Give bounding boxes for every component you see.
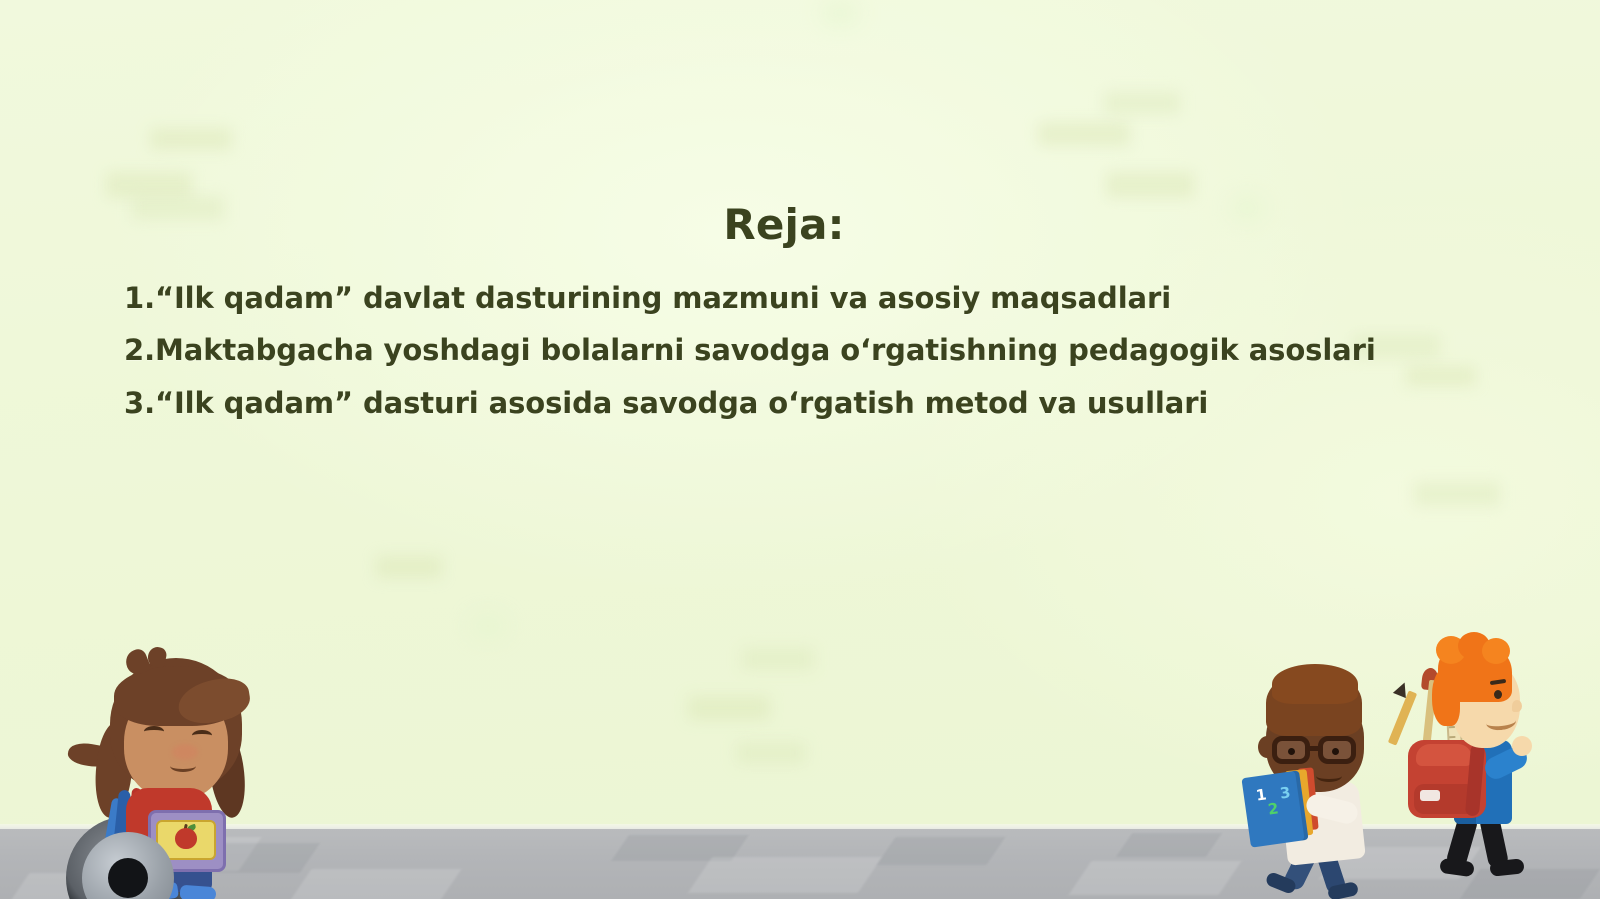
agenda-list: 1.“Ilk qadam” davlat dasturining mazmuni… <box>124 278 1424 424</box>
hair <box>1272 664 1358 704</box>
watermark-shape <box>688 696 770 720</box>
presentation-slide: Reja: 1.“Ilk qadam” davlat dasturining m… <box>0 0 1600 899</box>
floor-tile <box>1069 861 1242 895</box>
eye <box>1288 748 1295 755</box>
boy-with-glasses-illustration: 1 2 3 <box>1228 658 1378 876</box>
wheelchair-hub <box>108 858 148 898</box>
eye-closed <box>144 726 164 737</box>
page-title: Reja: <box>0 200 1568 249</box>
floor-tile <box>289 869 462 899</box>
nose <box>1512 700 1522 712</box>
boy-with-backpack-illustration <box>1372 632 1536 880</box>
eye-closed <box>192 730 212 741</box>
watermark-shape <box>1414 482 1500 506</box>
eyeglasses-bridge <box>1308 746 1322 751</box>
list-item: 2.Maktabgacha yoshdagi bolalarni savodga… <box>124 330 1424 371</box>
watermark-shape <box>150 128 232 150</box>
watermark-shape <box>1104 92 1180 114</box>
backpack-tag <box>1420 790 1440 801</box>
watermark-shape <box>376 556 442 578</box>
hand <box>1512 736 1532 756</box>
floor-tile <box>1116 833 1222 857</box>
list-item: 3.“Ilk qadam” dasturi asosida savodga o‘… <box>124 383 1424 424</box>
floor-tile <box>877 837 1006 865</box>
watermark-shape <box>742 648 814 670</box>
shoe <box>180 885 217 899</box>
shoe <box>1489 858 1524 876</box>
watermark-shape <box>106 172 192 198</box>
watermark-shape <box>1038 122 1130 146</box>
list-item: 1.“Ilk qadam” davlat dasturining mazmuni… <box>124 278 1424 319</box>
smile <box>1316 770 1342 782</box>
shoe <box>1439 858 1475 878</box>
backpack-top <box>1416 744 1472 766</box>
watermark-shape <box>1106 172 1194 198</box>
smile <box>170 760 196 772</box>
pencil-icon <box>1388 690 1417 745</box>
hair-curl <box>1482 638 1510 664</box>
apple-icon <box>175 828 197 849</box>
watermark-shape <box>470 614 506 638</box>
cheek-blush <box>172 744 198 760</box>
floor-tile <box>688 857 882 893</box>
watermark-shape <box>820 0 860 26</box>
eye <box>1494 690 1502 699</box>
girl-in-wheelchair-illustration <box>52 640 252 875</box>
watermark-shape <box>736 742 806 764</box>
eye <box>1332 748 1339 755</box>
